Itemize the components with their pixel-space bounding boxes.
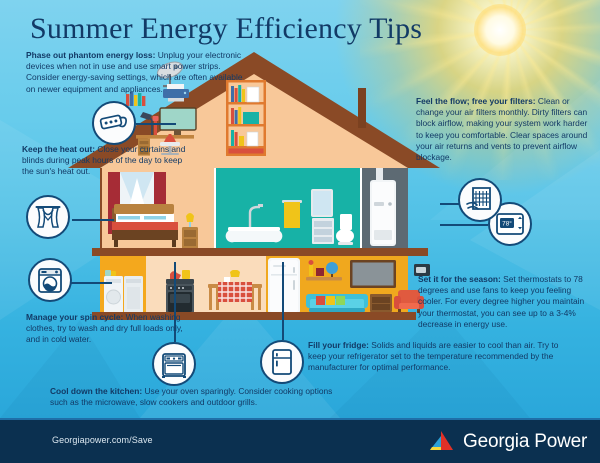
footer-top-rule — [0, 418, 600, 420]
footer-bar: Georgiapower.com/Save Georgia Power — [0, 418, 600, 463]
oven-icon — [160, 350, 188, 378]
tip-free-your-filters: Feel the flow; free your filters: Clean … — [416, 96, 588, 163]
power-strip-icon-bubble[interactable] — [92, 101, 136, 145]
interior-wall — [100, 168, 102, 250]
leader-line — [72, 219, 114, 221]
leader-line — [136, 123, 176, 125]
tip-cool-kitchen: Cool down the kitchen: Use your oven spa… — [50, 386, 352, 408]
washing-machine-icon-bubble[interactable] — [28, 258, 72, 302]
tip-heading: Manage your spin cycle: — [26, 312, 123, 322]
sun-disc — [474, 4, 526, 56]
leader-line — [70, 282, 112, 284]
water-heater-unit — [368, 168, 402, 250]
footer-url[interactable]: Georgiapower.com/Save — [52, 435, 153, 445]
infographic-poster: Summer Energy Efficiency Tips — [0, 0, 600, 463]
dining-table-set — [202, 270, 268, 314]
oven-icon-bubble[interactable] — [152, 342, 196, 386]
washer-dryer-pair — [104, 270, 144, 314]
tip-spin-cycle: Manage your spin cycle: When washing clo… — [26, 312, 192, 346]
curtains-icon-bubble[interactable] — [26, 195, 70, 239]
oven-stove — [164, 268, 196, 314]
tip-heading: Fill your fridge: — [308, 340, 369, 350]
refrigerator-icon-bubble[interactable] — [260, 340, 304, 384]
air-filter-icon — [465, 185, 495, 215]
georgia-power-triangle-logo — [428, 430, 456, 454]
tip-phantom-energy: Phase out phantom energy loss: Unplug yo… — [26, 50, 244, 95]
washing-machine-icon — [36, 266, 64, 294]
thermostat-icon: 78° — [495, 211, 525, 237]
page-title: Summer Energy Efficiency Tips — [30, 12, 422, 46]
brand-logo[interactable]: Georgia Power — [428, 430, 587, 454]
refrigerator-icon — [269, 348, 295, 376]
roof-eave — [386, 248, 428, 256]
thermostat-reading: 78° — [502, 220, 512, 228]
television — [350, 260, 396, 290]
bathroom-fixtures — [220, 174, 358, 250]
leader-line — [282, 262, 284, 340]
tip-heading: Feel the flow; free your filters: — [416, 96, 536, 106]
bed-furniture — [112, 204, 184, 248]
chimney — [358, 88, 366, 128]
tip-heading: Phase out phantom energy loss: — [26, 50, 155, 60]
tip-heading: Set it for the season: — [418, 274, 501, 284]
nightstand-with-lamp — [180, 212, 200, 250]
leader-line — [440, 224, 488, 226]
floor-divider — [92, 248, 416, 256]
air-filter-icon-bubble[interactable] — [458, 178, 502, 222]
curtains-icon — [34, 203, 62, 231]
refrigerator — [268, 258, 300, 314]
tip-fill-fridge: Fill your fridge: Solids and liquids are… — [308, 340, 564, 374]
tip-keep-heat-out: Keep the heat out: Close your curtains a… — [22, 144, 188, 178]
power-strip-icon — [99, 108, 129, 138]
living-room-wall-shelf — [306, 260, 342, 284]
tip-heading: Cool down the kitchen: — [50, 386, 142, 396]
brand-name: Georgia Power — [463, 431, 587, 453]
tip-heading: Keep the heat out: — [22, 144, 95, 154]
tip-set-for-season: Set it for the season: Set thermostats t… — [418, 274, 588, 330]
